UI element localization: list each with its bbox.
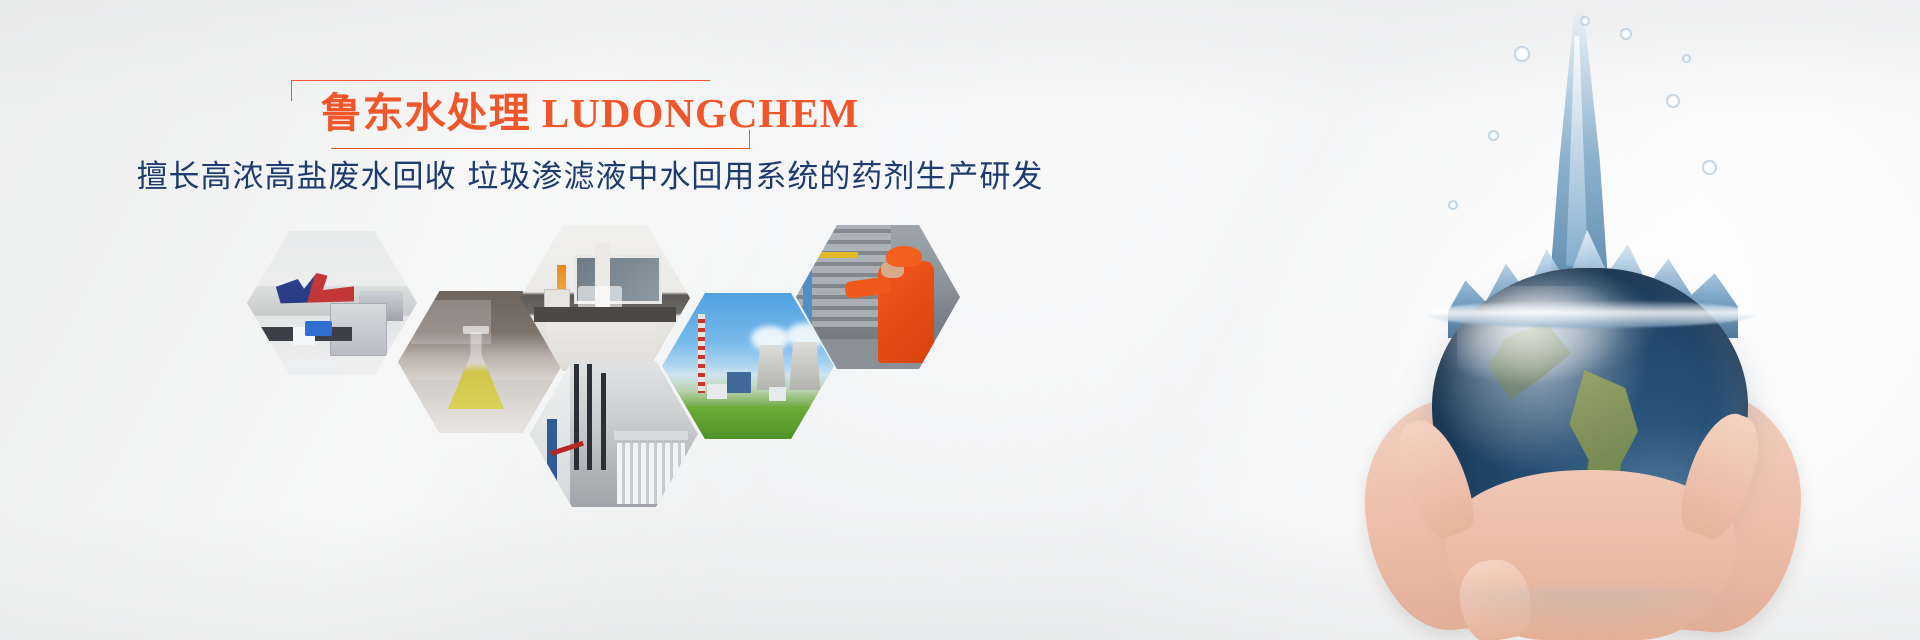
globe-waterline <box>1426 300 1756 328</box>
plant-building-white-2 <box>769 387 786 401</box>
hex-tile-laboratory-room[interactable] <box>247 228 417 378</box>
water-droplet-6 <box>1448 200 1458 210</box>
water-droplet-4 <box>1488 130 1499 141</box>
water-droplet-7 <box>1682 54 1691 63</box>
water-droplet-3 <box>1666 94 1680 108</box>
wall-slogan-graphic <box>276 273 354 306</box>
plant-building-blue <box>727 372 751 393</box>
black-pipe-3 <box>601 373 606 470</box>
smokestack <box>698 314 705 393</box>
laboratory-room-photo <box>247 228 417 378</box>
black-pipe-2 <box>587 364 592 470</box>
lab-bench-dark <box>534 307 677 322</box>
cooling-tower-1 <box>757 345 786 391</box>
membrane-header-rail <box>614 431 688 440</box>
lab-jug-c <box>325 359 339 376</box>
water-droplet-2 <box>1620 28 1632 40</box>
membrane-module-bank <box>617 443 684 504</box>
yellow-rail <box>816 252 859 258</box>
worker-orange-helmet <box>886 246 922 267</box>
hero-banner: 鲁东水处理 LUDONGCHEM 擅长高浓高盐废水回收 垃圾渗滤液中水回用系统的… <box>0 0 1920 640</box>
hex-photo-gallery <box>0 0 1000 640</box>
ground-reflection <box>1430 588 1760 634</box>
cooling-tower-2 <box>789 342 820 391</box>
black-pipe-1 <box>574 364 579 470</box>
lab-jug-a <box>291 359 305 376</box>
lab-jug-b <box>308 359 322 376</box>
plant-building-white-1 <box>707 384 728 399</box>
water-droplet-1 <box>1514 46 1530 62</box>
water-droplet-5 <box>1702 160 1717 175</box>
lab-blue-instrument <box>305 321 332 336</box>
water-droplet-8 <box>1580 16 1590 26</box>
flask-neck <box>463 326 490 333</box>
water-globe-artwork <box>1130 0 1920 640</box>
